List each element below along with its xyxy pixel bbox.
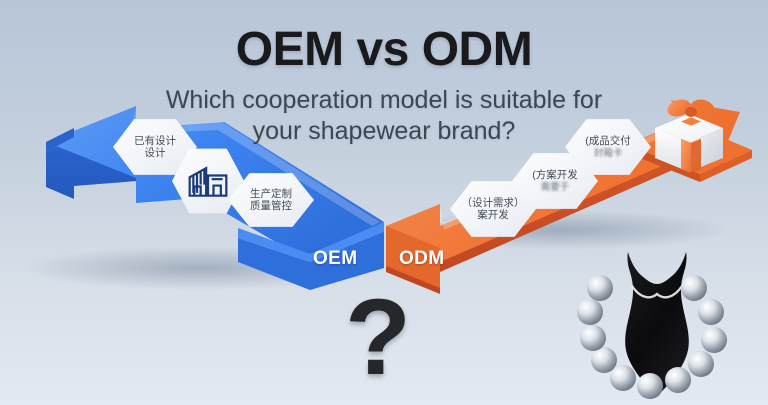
oem-step-production-line1: 生产定制	[250, 188, 292, 200]
odm-step-planning-line1: (方案开发	[532, 169, 578, 181]
subtitle-line-2: your shapewear brand?	[0, 116, 768, 147]
oem-step-design-line2: 设计	[145, 147, 166, 159]
product-showcase	[566, 250, 752, 402]
page-title: OEM vs ODM	[0, 22, 768, 77]
oem-step-production-line2: 质量管控	[250, 200, 292, 212]
odm-step-requirement-line2: 案开发	[477, 209, 509, 221]
odm-step-delivery-blurred: 封箱卡	[594, 148, 623, 159]
odm-step-requirement-line1: （设计需求）	[462, 197, 525, 209]
page-subtitle: Which cooperation model is suitable for …	[0, 85, 768, 146]
factory-icon	[186, 162, 230, 200]
odm-step-planning-blurred: 需要于	[541, 182, 570, 193]
subtitle-line-1: Which cooperation model is suitable for	[0, 85, 768, 116]
odm-label: ODM	[399, 248, 445, 270]
infographic-canvas: OEM vs ODM Which cooperation model is su…	[0, 0, 768, 405]
question-mark: ?	[345, 283, 411, 391]
oem-label: OEM	[313, 248, 357, 270]
